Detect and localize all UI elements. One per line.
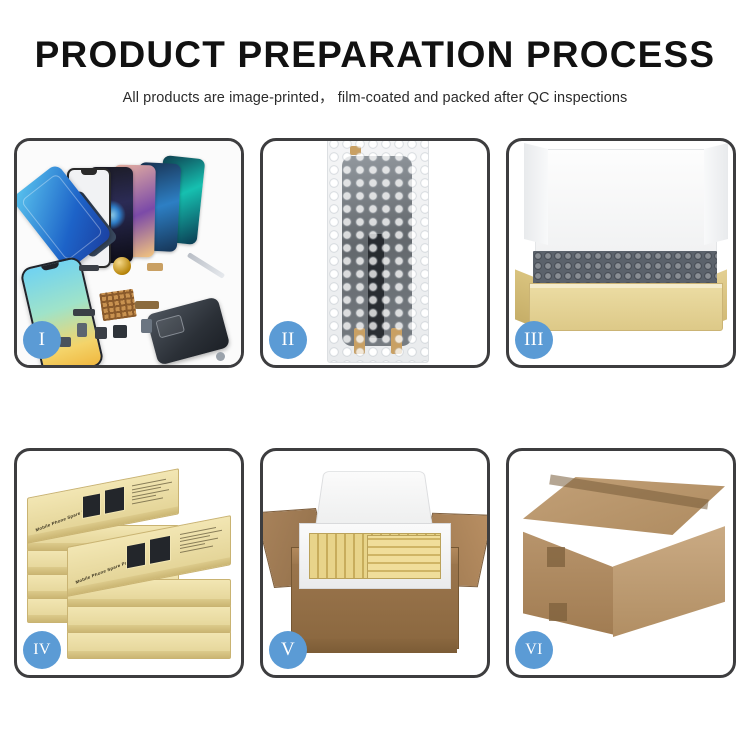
carton-tape-lower — [549, 603, 567, 621]
step-badge-5: V — [269, 631, 307, 669]
process-step-panel-6: VI — [506, 448, 736, 678]
step-badge-1: I — [23, 321, 61, 359]
packed-boxes-row-2 — [367, 535, 441, 579]
header: PRODUCT PREPARATION PROCESS All products… — [0, 0, 750, 107]
chip-grid-part-icon — [99, 289, 137, 321]
process-step-panel-4: Mobile Phone Spare Parts Mobile Phone Sp… — [14, 448, 244, 678]
box-stack-illustration: Mobile Phone Spare Parts Mobile Phone Sp… — [27, 467, 237, 669]
bubble-wrap-fill-icon — [533, 251, 717, 285]
step-badge-4: IV — [23, 631, 61, 669]
carton-tape-upper — [547, 547, 565, 567]
box-front-panel — [529, 283, 723, 331]
step-badge-2: II — [269, 321, 307, 359]
process-step-panel-3: III — [506, 138, 736, 368]
page-subtitle: All products are image-printed， film-coa… — [0, 86, 750, 107]
process-step-panel-5: V — [260, 448, 490, 678]
bubble-wrap-bag-icon — [327, 141, 429, 363]
process-step-grid: I II — [14, 138, 736, 678]
box-lid-icon — [535, 149, 717, 261]
product-preparation-infographic: PRODUCT PREPARATION PROCESS All products… — [0, 0, 750, 750]
coil-part-icon — [113, 257, 131, 275]
process-step-panel-2: II — [260, 138, 490, 368]
step-badge-3: III — [515, 321, 553, 359]
step-badge-6: VI — [515, 631, 553, 669]
page-title: PRODUCT PREPARATION PROCESS — [0, 36, 750, 75]
carton-left-face — [523, 515, 615, 635]
process-step-panel-1: I — [14, 138, 244, 368]
